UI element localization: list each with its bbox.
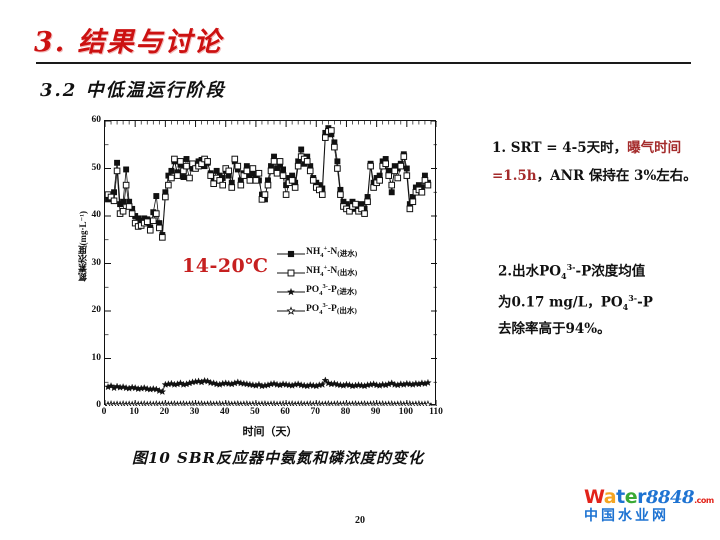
bullet-1-part-a: 1. SRT = 4-5天时， (492, 140, 627, 156)
x-tick-label: 20 (160, 407, 170, 417)
watermark-number: 8848 (646, 487, 694, 508)
title-divider (36, 62, 691, 64)
legend-item: PO43--P(出水) (276, 300, 416, 319)
watermark-letter-t: t (616, 486, 625, 508)
legend-item: NH4+-N(进水) (276, 243, 416, 262)
section-subtitle: 3.2 中低温运行阶段 (40, 76, 226, 102)
site-watermark: Water8848.com 中国水业网 (584, 488, 712, 524)
bullet-2-line2-sup: 3- (628, 293, 637, 303)
watermark-letter-a: a (604, 486, 616, 508)
x-tick-label: 60 (280, 407, 290, 417)
x-tick-label: 100 (399, 407, 413, 417)
chart-x-tick-labels: 0102030405060708090100110 (104, 407, 436, 423)
watermark-letter-e: e (625, 486, 637, 508)
bullet-list: 1. SRT = 4-5天时，曝气时间=1.5h，ANR 保持在 3%左右。 2… (492, 134, 716, 190)
x-tick-label: 50 (250, 407, 260, 417)
bullet-2-line2-sub: 4 (623, 302, 629, 312)
bullet-item-1: 1. SRT = 4-5天时，曝气时间=1.5h，ANR 保持在 3%左右。 (492, 134, 716, 190)
watermark-chinese: 中国水业网 (584, 509, 712, 524)
bullet-1-part-c: ，ANR 保持在 3%左右。 (537, 168, 697, 184)
x-tick-label: 110 (429, 407, 443, 417)
bullet-2-line1-pre: 2.出水PO (498, 264, 561, 280)
temperature-annotation: 14-20℃ (182, 255, 269, 277)
bullet-2-line2-post: -P (637, 295, 653, 311)
legend-item: PO43--P(进水) (276, 281, 416, 300)
slide-canvas: 3. 结果与讨论 3.2 中低温运行阶段 氮素浓度(mg·L⁻¹) 010203… (0, 0, 720, 540)
y-tick-label: 30 (92, 258, 102, 268)
chart-y-tick-labels: 0102030405060 (78, 115, 102, 410)
watermark-tld: .com (694, 496, 714, 505)
watermark-wordmark: Water8848.com (584, 488, 712, 508)
y-tick-label: 10 (92, 353, 102, 363)
x-tick-label: 40 (220, 407, 230, 417)
figure-caption: 图10 SBR反应器中氨氮和磷浓度的变化 (30, 447, 526, 468)
y-tick-label: 0 (96, 400, 101, 410)
bullet-2-line2-pre: 为0.17 mg/L，PO (498, 295, 623, 311)
watermark-letter-w: W (584, 486, 604, 508)
chart-series-1 (105, 128, 431, 240)
y-tick-label: 40 (92, 210, 102, 220)
legend-label: PO43--P(进水) (306, 283, 357, 297)
bullet-2-line1-sub: 4 (561, 271, 567, 281)
y-tick-label: 50 (92, 163, 102, 173)
bullet-2-line3: 去除率高于94%。 (498, 321, 611, 337)
x-tick-label: 10 (129, 407, 139, 417)
legend-label: NH4+-N(出水) (306, 264, 357, 278)
legend-marker-icon (276, 247, 306, 259)
x-tick-label: 70 (311, 407, 321, 417)
y-tick-label: 60 (92, 115, 102, 125)
legend-marker-icon (276, 285, 306, 297)
legend-label: NH4+-N(进水) (306, 245, 357, 259)
x-tick-label: 80 (341, 407, 351, 417)
chart-x-axis-label: 时间（天） (104, 423, 436, 439)
legend-label: PO43--P(出水) (306, 302, 357, 316)
y-tick-label: 20 (92, 305, 102, 315)
legend-item: NH4+-N(出水) (276, 262, 416, 281)
chart-series-2 (105, 377, 431, 395)
bullet-2-line1-post: -P浓度均值 (575, 264, 645, 280)
watermark-letter-r: r (637, 486, 646, 508)
chart-series-3 (105, 401, 431, 406)
bullet-item-2: 2.出水PO43--P浓度均值 为0.17 mg/L，PO43--P 去除率高于… (498, 256, 716, 340)
x-tick-label: 30 (190, 407, 200, 417)
x-tick-label: 0 (102, 407, 107, 417)
page-title: 3. 结果与讨论 (34, 20, 223, 59)
legend-marker-icon (276, 304, 306, 316)
x-tick-label: 90 (371, 407, 381, 417)
chart-figure: 氮素浓度(mg·L⁻¹) 0102030405060 0102030405060… (78, 115, 478, 470)
legend-marker-icon (276, 266, 306, 278)
chart-legend: NH4+-N(进水)NH4+-N(出水)PO43--P(进水)PO43--P(出… (276, 243, 416, 319)
